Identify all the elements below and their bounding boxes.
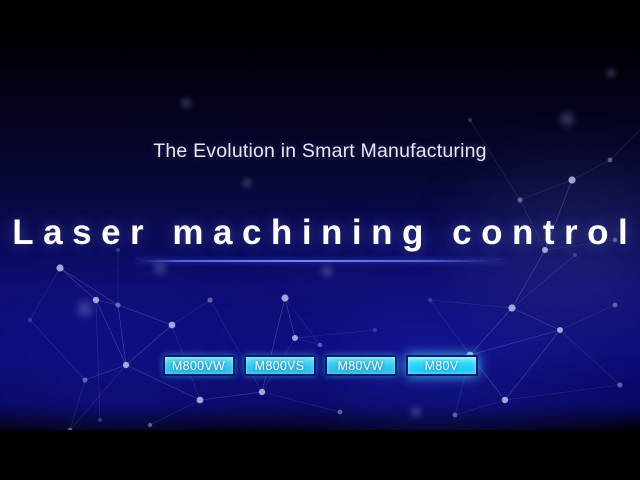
page-title: Laser machining control	[0, 213, 640, 253]
slide-subtitle: The Evolution in Smart Manufacturing	[0, 140, 640, 163]
model-button-row: M800VWM800VSM80VWM80V	[0, 355, 640, 376]
model-button-m80v[interactable]: M80V	[406, 355, 478, 376]
letterbox-top	[0, 0, 640, 30]
slide-content: The Evolution in Smart Manufacturing Las…	[0, 0, 640, 480]
title-divider	[135, 260, 505, 262]
video-frame: The Evolution in Smart Manufacturing Las…	[0, 0, 640, 480]
model-button-m80vw[interactable]: M80VW	[325, 355, 397, 376]
model-button-m800vs[interactable]: M800VS	[244, 355, 316, 376]
model-button-m800vw[interactable]: M800VW	[163, 355, 235, 376]
letterbox-bottom	[0, 430, 640, 480]
